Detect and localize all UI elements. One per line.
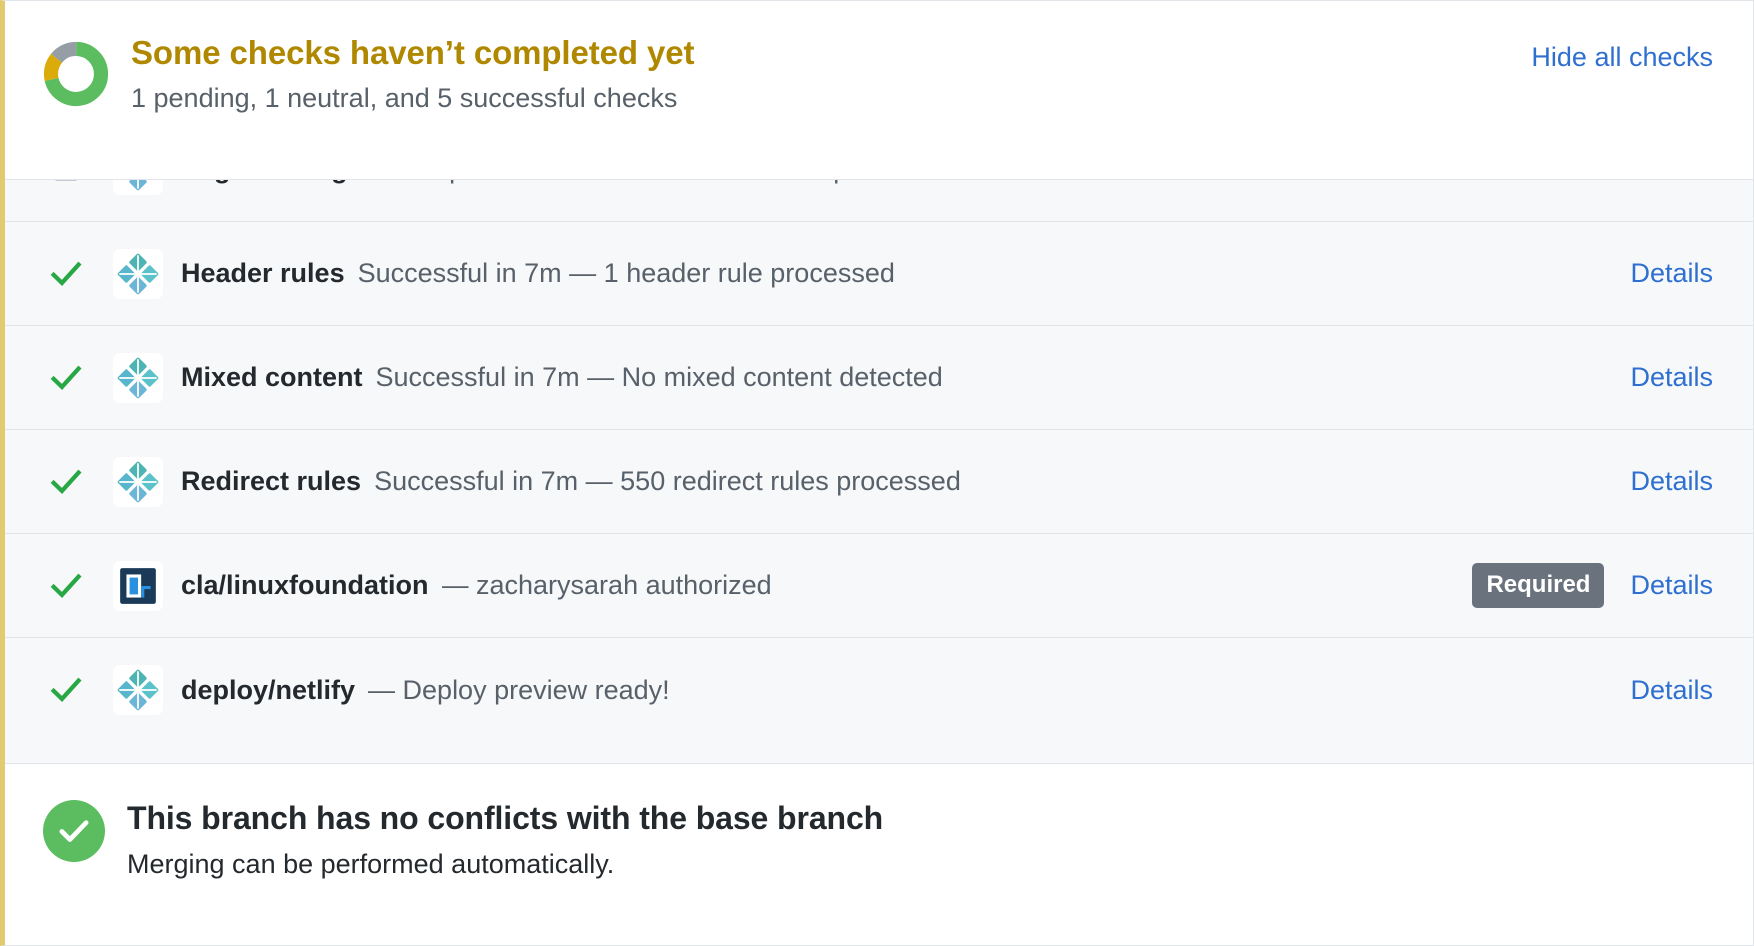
checks-summary-header: Some checks haven’t completed yet 1 pend… [5, 1, 1753, 179]
table-row[interactable]: Mixed content Successful in 7m — No mixe… [5, 326, 1753, 430]
check-description: Completed in 7m — 2094 new files uploade… [392, 179, 929, 185]
linuxfoundation-cla-icon [113, 561, 163, 611]
checks-summary-text: Some checks haven’t completed yet 1 pend… [131, 31, 1531, 117]
check-mark-icon [43, 459, 89, 505]
check-description: — zacharysarah authorized [442, 570, 772, 601]
merge-status-text: This branch has no conflicts with the ba… [127, 798, 1713, 882]
details-link[interactable]: Details [1630, 675, 1713, 706]
table-row[interactable]: deploy/netlify — Deploy preview ready! D… [5, 638, 1753, 742]
table-row[interactable]: cla/linuxfoundation — zacharysarah autho… [5, 534, 1753, 638]
check-description: Successful in 7m — No mixed content dete… [376, 362, 943, 393]
details-link[interactable]: Details [1630, 466, 1713, 497]
check-context: Pages changed [181, 179, 379, 185]
check-description: Successful in 7m — 550 redirect rules pr… [374, 466, 961, 497]
table-row[interactable]: Pages changed Completed in 7m — 2094 new… [5, 179, 1753, 222]
netlify-diamond-icon [113, 457, 163, 507]
table-row[interactable]: Header rules Successful in 7m — 1 header… [5, 222, 1753, 326]
check-mark-icon [43, 563, 89, 609]
details-link[interactable]: Details [1630, 179, 1713, 185]
neutral-square-icon [43, 179, 89, 193]
checks-status-summary: 1 pending, 1 neutral, and 5 successful c… [131, 80, 1531, 116]
donut-chart-icon [43, 41, 109, 107]
check-context: Mixed content [181, 362, 363, 393]
details-link[interactable]: Details [1630, 258, 1713, 289]
merge-status-title: This branch has no conflicts with the ba… [127, 798, 1713, 838]
check-context: deploy/netlify [181, 675, 355, 706]
checks-status-title: Some checks haven’t completed yet [131, 33, 1531, 73]
check-context: cla/linuxfoundation [181, 570, 429, 601]
netlify-diamond-icon [113, 249, 163, 299]
check-circle-icon [43, 800, 105, 862]
hide-all-checks-link[interactable]: Hide all checks [1531, 31, 1713, 73]
check-context: Header rules [181, 258, 345, 289]
details-link[interactable]: Details [1630, 570, 1713, 601]
check-mark-icon [43, 667, 89, 713]
netlify-diamond-icon [113, 353, 163, 403]
check-description: — Deploy preview ready! [368, 675, 670, 706]
check-mark-icon [43, 355, 89, 401]
check-description: Successful in 7m — 1 header rule process… [358, 258, 895, 289]
merge-status-subtitle: Merging can be performed automatically. [127, 846, 1713, 882]
status-badge: Required [1472, 563, 1604, 608]
check-context: Redirect rules [181, 466, 361, 497]
details-link[interactable]: Details [1630, 362, 1713, 393]
check-mark-icon [43, 251, 89, 297]
netlify-diamond-icon [113, 665, 163, 715]
pr-checks-panel: Some checks haven’t completed yet 1 pend… [0, 0, 1754, 946]
merge-status-section: This branch has no conflicts with the ba… [5, 763, 1753, 945]
checks-list[interactable]: Pages changed Completed in 7m — 2094 new… [5, 179, 1753, 763]
table-row[interactable]: Redirect rules Successful in 7m — 550 re… [5, 430, 1753, 534]
netlify-diamond-icon [113, 179, 163, 195]
checks-list-inner: Pages changed Completed in 7m — 2094 new… [5, 179, 1753, 742]
